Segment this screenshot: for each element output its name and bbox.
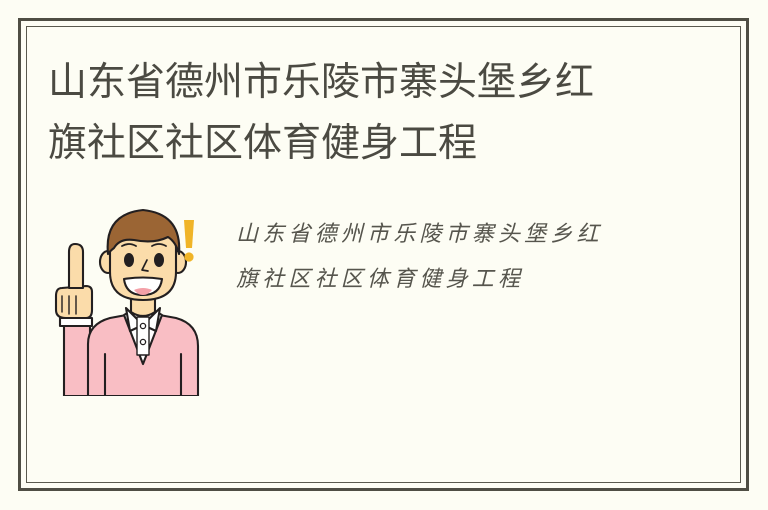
page-title-line-2: 旗社区社区体育健身工程 [48, 113, 668, 174]
content-row: 山东省德州市乐陵市寨头堡乡红 旗社区社区体育健身工程 [48, 196, 708, 396]
shirt-button-2 [140, 339, 145, 344]
body-text-line-1: 山东省德州市乐陵市寨头堡乡红 [236, 212, 706, 257]
shirt-placket [137, 317, 149, 355]
page-title-line-1: 山东省德州市乐陵市寨头堡乡红 [48, 52, 668, 113]
shirt-cuff [60, 318, 92, 326]
exclamation-icon [184, 220, 194, 262]
body-text-line-2: 旗社区社区体育健身工程 [236, 257, 706, 302]
shirt-button-1 [140, 323, 145, 328]
body-text: 山东省德州市乐陵市寨头堡乡红 旗社区社区体育健身工程 [236, 212, 706, 302]
person-icon [48, 196, 208, 396]
page-root: 山东省德州市乐陵市寨头堡乡红 旗社区社区体育健身工程 [0, 0, 768, 510]
pointing-person-illustration [48, 196, 208, 396]
index-finger [69, 244, 83, 288]
page-title: 山东省德州市乐陵市寨头堡乡红 旗社区社区体育健身工程 [48, 52, 668, 174]
eye-left [124, 253, 134, 267]
eye-right [154, 253, 164, 267]
